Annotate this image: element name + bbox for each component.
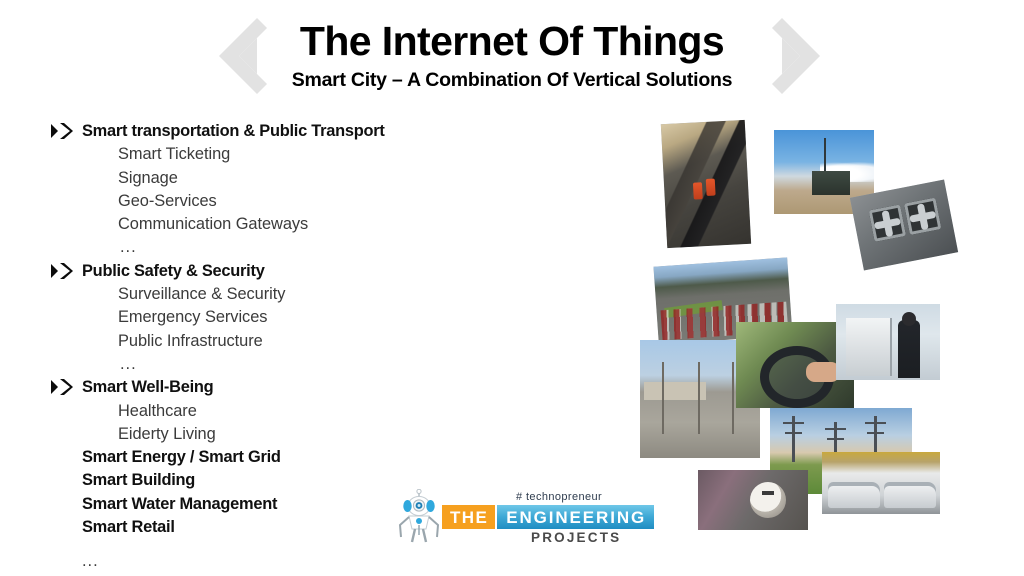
logo-projects-label: PROJECTS [531, 530, 621, 545]
outline-heading-smart-energy: Smart Energy / Smart Grid [50, 446, 570, 469]
outline-item-label: Communication Gateways [118, 213, 308, 236]
outline-item-label: Smart Ticketing [118, 143, 230, 166]
outline-ellipsis: ... [50, 236, 570, 259]
outline-heading-smart-well-being: Smart Well-Being [50, 376, 570, 399]
page-title: The Internet Of Things [0, 18, 1024, 64]
outline-item: Surveillance & Security [50, 283, 570, 306]
outline-ellipsis-label: ... [120, 353, 137, 376]
outline-item-label: Healthcare [118, 400, 197, 423]
water-meter-photo [698, 470, 808, 530]
outline-heading-label: Smart Water Management [82, 493, 277, 516]
outline-item: Geo-Services [50, 190, 570, 213]
logo-wordmark: THE ENGINEERING [442, 505, 654, 529]
chevron-right-bullet-icon [50, 121, 74, 141]
outline-item: Communication Gateways [50, 213, 570, 236]
outline-item: Public Infrastructure [50, 330, 570, 353]
outline-item-label: Surveillance & Security [118, 283, 285, 306]
robot-mascot-icon [396, 489, 442, 543]
outline-heading-smart-transportation: Smart transportation & Public Transport [50, 120, 570, 143]
outline-item-label: Public Infrastructure [118, 330, 263, 353]
chevron-right-bullet-icon [50, 261, 74, 281]
outline-heading-label: Smart Energy / Smart Grid [82, 446, 281, 469]
logo-the-label: THE [442, 505, 495, 529]
outline-heading-label: Public Safety & Security [82, 260, 265, 283]
slide-header: The Internet Of Things Smart City – A Co… [0, 0, 1024, 108]
outline-item: Emergency Services [50, 306, 570, 329]
brand-logo: # technopreneur THE ENGINEERING PROJECTS [396, 489, 626, 545]
outline-item-label: Signage [118, 167, 178, 190]
outline-heading-label: Smart Well-Being [82, 376, 213, 399]
page-subtitle: Smart City – A Combination Of Vertical S… [0, 67, 1024, 93]
title-block: The Internet Of Things Smart City – A Co… [0, 18, 1024, 93]
outline-heading-public-safety: Public Safety & Security [50, 260, 570, 283]
outline-ellipsis: ... [50, 353, 570, 376]
outline-heading-label: Smart transportation & Public Transport [82, 120, 385, 143]
outline-heading-label: Smart Retail [82, 516, 175, 539]
logo-engineering-label: ENGINEERING [497, 505, 654, 529]
outline-item-label: Emergency Services [118, 306, 267, 329]
outline-heading-label: Smart Building [82, 469, 195, 492]
outline-item: Eiderty Living [50, 423, 570, 446]
photo-collage [640, 122, 960, 530]
outline-item: Smart Ticketing [50, 143, 570, 166]
outline-item-label: Geo-Services [118, 190, 217, 213]
outline-item-label: Eiderty Living [118, 423, 216, 446]
outline-item: Signage [50, 167, 570, 190]
outline-ellipsis-label: ... [120, 236, 137, 259]
chevron-right-bullet-icon [50, 377, 74, 397]
technician-control-cabinet-photo [836, 304, 940, 380]
outline-item: Healthcare [50, 400, 570, 423]
outline-ellipsis-label: ... [82, 550, 99, 573]
outline-final-ellipsis: ... [50, 550, 570, 573]
logo-hashtag: # technopreneur [516, 491, 602, 503]
railway-track-workers-photo [661, 120, 751, 248]
slide-canvas: The Internet Of Things Smart City – A Co… [0, 0, 1024, 576]
parked-cars-photo [822, 452, 940, 514]
